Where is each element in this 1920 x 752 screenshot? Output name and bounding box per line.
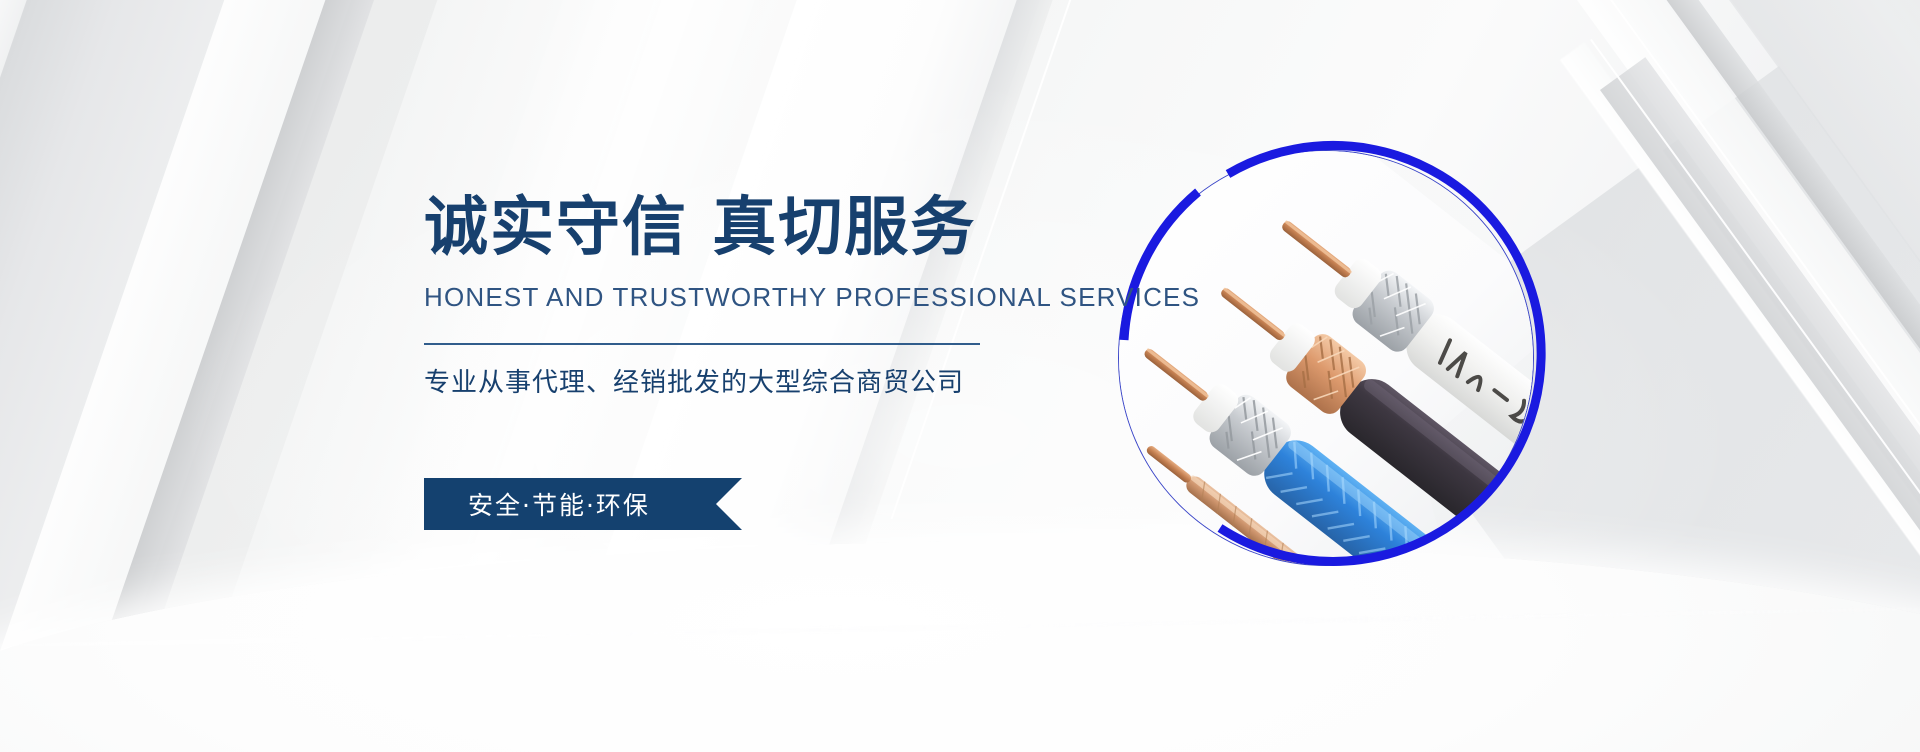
ribbon-label: 安全·节能·环保: [424, 478, 742, 530]
product-photo: [1118, 150, 1534, 566]
ribbon-badge: 安全·节能·环保: [424, 478, 742, 530]
product-circle: [1118, 150, 1534, 566]
hero-copy: 诚实守信 真切服务 HONEST AND TRUSTWORTHY PROFESS…: [424, 196, 1124, 399]
page-title: 诚实守信 真切服务: [424, 196, 1124, 260]
hero-banner: 诚实守信 真切服务 HONEST AND TRUSTWORTHY PROFESS…: [0, 0, 1920, 752]
divider-rule: [424, 343, 980, 345]
subtitle-english: HONEST AND TRUSTWORTHY PROFESSIONAL SERV…: [424, 282, 1124, 313]
tagline-text: 专业从事代理、经销批发的大型综合商贸公司: [424, 362, 1124, 399]
cable-illustration: [1119, 151, 1533, 565]
